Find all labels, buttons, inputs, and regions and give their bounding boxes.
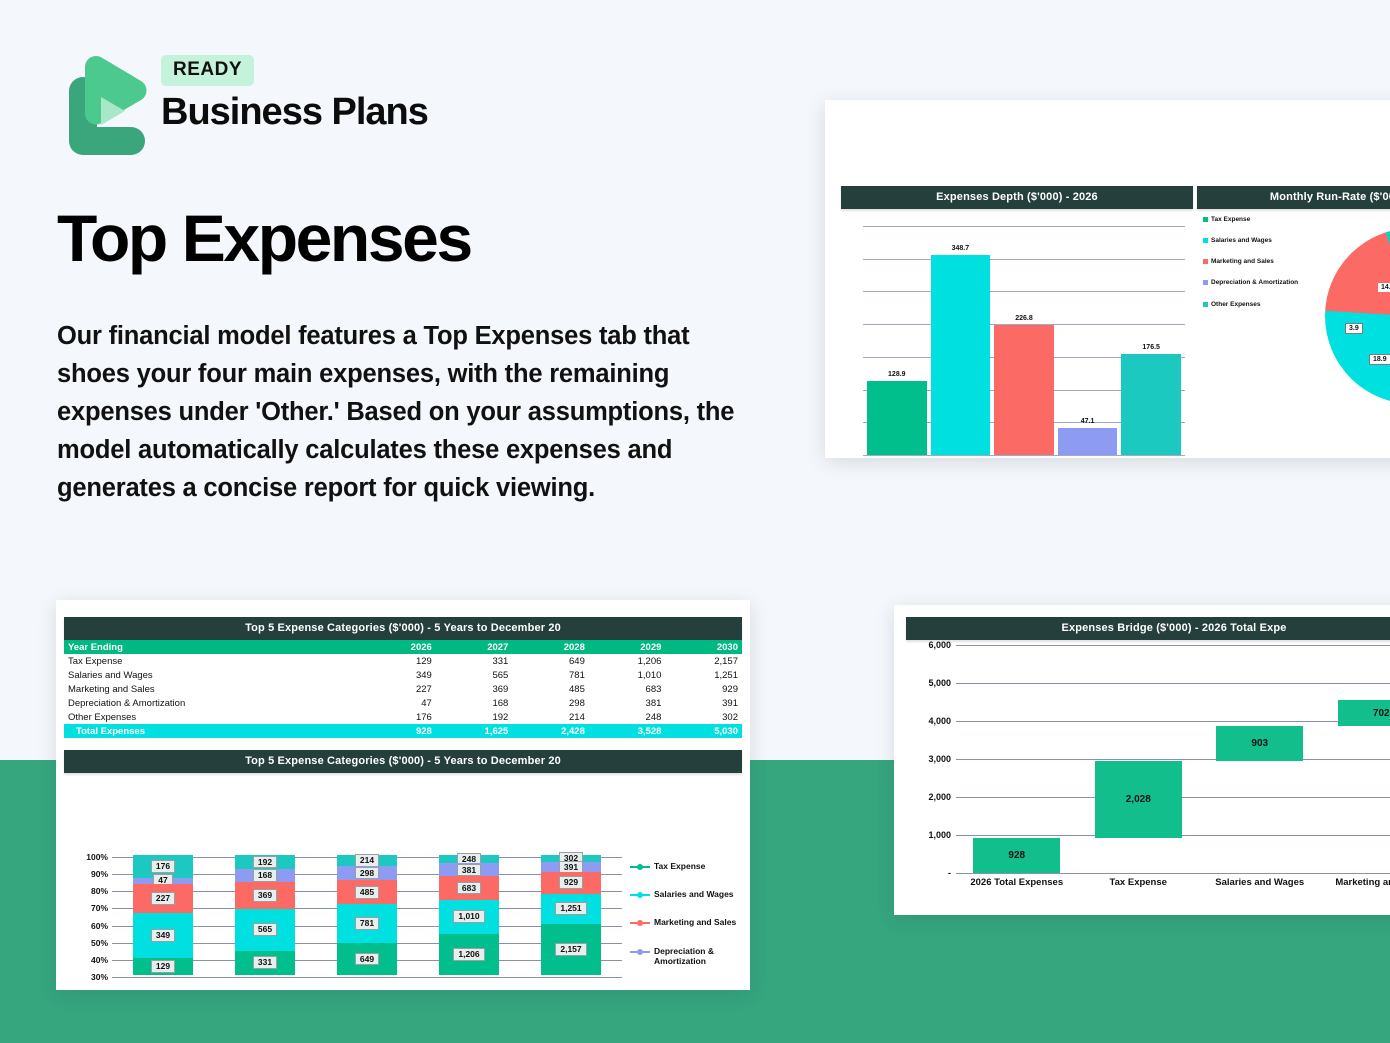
y-axis-tick-label: 2,000 <box>928 792 951 802</box>
table-row: Tax Expense1293316491,2062,157 <box>64 654 742 668</box>
expenses-depth-title: Expenses Depth ($'000) - 2026 <box>841 186 1193 209</box>
table-row: Depreciation & Amortization4716829838139… <box>64 696 742 710</box>
table-cell: 298 <box>512 696 589 710</box>
table-column-header: Year Ending <box>64 640 366 654</box>
table-row-label: Other Expenses <box>64 710 366 724</box>
stacked-segment: 349 <box>133 913 192 958</box>
table-row-label: Tax Expense <box>64 654 366 668</box>
stacked-segment: 1,010 <box>439 900 498 934</box>
top-chart-title-row: Expenses Depth ($'000) - 2026 Monthly Ru… <box>841 186 1390 209</box>
legend-item: Marketing and Sales <box>1203 258 1323 266</box>
y-axis-tick-label: - <box>948 868 951 878</box>
table-total-row: Total Expenses9281,6252,4283,5285,030 <box>64 724 742 738</box>
segment-value-label: 176 <box>151 860 175 873</box>
waterfall-value-label: 702 <box>1373 708 1390 719</box>
legend-item: Salaries and Wages <box>1203 237 1323 245</box>
table-row: Other Expenses176192214248302 <box>64 710 742 724</box>
depth-bar-value-label: 176.5 <box>1121 344 1181 351</box>
expenses-depth-chart: 128.9348.7226.847.1176.5 <box>841 212 1193 458</box>
depth-bar <box>931 255 991 455</box>
monthly-run-rate-pie-chart: 10.7 14.7 3.9 18.9 <box>1325 228 1390 408</box>
table-cell: 391 <box>665 696 742 710</box>
stacked-segment: 929 <box>541 872 600 894</box>
stacked-segment: 391 <box>541 862 600 871</box>
stacked-segment: 331 <box>235 951 294 975</box>
play-triangle-logo-icon <box>57 55 149 160</box>
y-axis-tick-label: 100% <box>86 852 108 862</box>
top-5-expense-categories-panel: Top 5 Expense Categories ($'000) - 5 Yea… <box>56 600 750 990</box>
stacked-segment: 683 <box>439 876 498 899</box>
table-cell: 929 <box>665 682 742 696</box>
table-body: Tax Expense1293316491,2062,157Salaries a… <box>64 654 742 738</box>
pie-slices <box>1325 228 1390 404</box>
depth-bar <box>1121 354 1181 455</box>
y-axis-tick-label: 90% <box>91 869 108 879</box>
table-cell: 565 <box>436 668 513 682</box>
waterfall-column: 903 <box>1199 645 1321 873</box>
segment-value-label: 929 <box>559 876 583 889</box>
stacked-column-chart: 100%90%80%70%60%50%40%30% 17647227349129… <box>64 855 742 983</box>
waterfall-column: 702 <box>1321 645 1390 873</box>
stacked-segment: 2,157 <box>541 924 600 975</box>
segment-value-label: 1,251 <box>555 902 586 915</box>
table-total-cell: 1,625 <box>436 724 513 738</box>
table-row: Salaries and Wages3495657811,0101,251 <box>64 668 742 682</box>
legend-label: Depreciation & Amortization <box>1211 279 1298 287</box>
stacked-segment: 129 <box>133 958 192 975</box>
legend-item: Marketing and Sales <box>630 917 742 927</box>
waterfall-category-label: Marketing and Sales <box>1321 877 1390 888</box>
table-row-label: Depreciation & Amortization <box>64 696 366 710</box>
waterfall-category-label: 2026 Total Expenses <box>956 877 1078 888</box>
table-cell: 47 <box>366 696 436 710</box>
stacked-segment: 381 <box>439 863 498 876</box>
legend-item: Depreciation & Amortization <box>1203 279 1323 287</box>
expense-table: Year Ending20262027202820292030 Tax Expe… <box>64 640 742 738</box>
table-column-header: 2027 <box>436 640 513 654</box>
table-total-label: Total Expenses <box>64 724 366 738</box>
table-row-label: Marketing and Sales <box>64 682 366 696</box>
stacked-segment: 298 <box>337 866 396 881</box>
stacked-column: 214298485781649 <box>316 855 418 975</box>
segment-value-label: 349 <box>151 929 175 942</box>
y-axis-tick-label: 50% <box>91 938 108 948</box>
table-cell: 168 <box>436 696 513 710</box>
table-row: Marketing and Sales227369485683929 <box>64 682 742 696</box>
stacked-segment: 485 <box>337 880 396 904</box>
legend-label: Tax Expense <box>1211 216 1250 224</box>
segment-value-label: 331 <box>253 956 277 969</box>
waterfall-category-label: Salaries and Wages <box>1199 877 1321 888</box>
segment-value-label: 485 <box>355 886 379 899</box>
waterfall-value-label: 903 <box>1251 738 1268 749</box>
y-axis-tick-label: 60% <box>91 921 108 931</box>
legend-item: Depreciation & Amortization <box>630 946 742 966</box>
table-row-label: Salaries and Wages <box>64 668 366 682</box>
y-axis-tick-label: 1,000 <box>928 830 951 840</box>
legend-label: Marketing and Sales <box>654 917 736 927</box>
table-cell: 227 <box>366 682 436 696</box>
table-cell: 192 <box>436 710 513 724</box>
y-axis-tick-label: 30% <box>91 972 108 982</box>
table-cell: 369 <box>436 682 513 696</box>
depth-bar <box>1058 428 1118 455</box>
waterfall-value-label: 2,028 <box>1126 794 1151 805</box>
legend-swatch <box>1203 302 1208 307</box>
table-header-row: Year Ending20262027202820292030 <box>64 640 742 654</box>
legend-item: Tax Expense <box>1203 216 1323 224</box>
page-title: Top Expenses <box>57 205 471 271</box>
y-axis-tick-label: 5,000 <box>928 678 951 688</box>
table-cell: 485 <box>512 682 589 696</box>
segment-value-label: 781 <box>355 917 379 930</box>
expenses-depth-panel: Expenses Depth ($'000) - 2026 Monthly Ru… <box>825 100 1390 458</box>
stacked-column: 2483816831,0101,206 <box>418 855 520 975</box>
waterfall-bars: 9282,028903702 <box>956 645 1390 873</box>
segment-value-label: 1,010 <box>453 910 484 923</box>
table-column-header: 2029 <box>589 640 666 654</box>
depth-bar-value-label: 128.9 <box>867 371 927 378</box>
segment-value-label: 129 <box>151 960 175 973</box>
pie-label-other: 3.9 <box>1345 323 1363 334</box>
depth-chart-bars: 128.9348.7226.847.1176.5 <box>863 226 1185 455</box>
table-cell: 129 <box>366 654 436 668</box>
y-axis-tick-label: 3,000 <box>928 754 951 764</box>
y-axis-tick-label: 6,000 <box>928 640 951 650</box>
table-cell: 683 <box>589 682 666 696</box>
segment-value-label: 649 <box>355 953 379 966</box>
depth-bar-column: 128.9 <box>867 226 927 455</box>
monthly-run-rate-title: Monthly Run-Rate ($'000) - <box>1197 186 1390 209</box>
stacked-chart-legend: Tax ExpenseSalaries and WagesMarketing a… <box>630 861 742 984</box>
stacked-segment: 565 <box>235 909 294 951</box>
legend-label: Other Expenses <box>1211 301 1261 309</box>
stacked-column: 192168369565331 <box>214 855 316 975</box>
legend-label: Salaries and Wages <box>654 889 734 899</box>
legend-marker <box>630 890 650 899</box>
waterfall-bar: 702 <box>1338 700 1390 727</box>
stacked-segment: 1,251 <box>541 894 600 924</box>
stacked-segment: 1,206 <box>439 934 498 975</box>
segment-value-label: 2,157 <box>555 943 586 956</box>
waterfall-column: 928 <box>956 645 1078 873</box>
stacked-segment: 227 <box>133 884 192 913</box>
table-cell: 349 <box>366 668 436 682</box>
table-total-cell: 5,030 <box>665 724 742 738</box>
table-column-header: 2030 <box>665 640 742 654</box>
depth-bar-value-label: 348.7 <box>931 245 991 252</box>
segment-value-label: 683 <box>457 882 481 895</box>
table-cell: 781 <box>512 668 589 682</box>
depth-bar-value-label: 226.8 <box>994 315 1054 322</box>
segment-value-label: 192 <box>253 856 277 869</box>
depth-bar <box>867 381 927 455</box>
table-cell: 302 <box>665 710 742 724</box>
segment-value-label: 1,206 <box>453 948 484 961</box>
ready-badge: READY <box>161 55 254 86</box>
stacked-segment: 192 <box>235 855 294 869</box>
legend-marker <box>630 947 650 956</box>
table-column-header: 2028 <box>512 640 589 654</box>
table-cell: 176 <box>366 710 436 724</box>
expenses-bridge-title: Expenses Bridge ($'000) - 2026 Total Exp… <box>906 617 1390 640</box>
table-total-cell: 3,528 <box>589 724 666 738</box>
stacked-segment: 781 <box>337 904 396 943</box>
pie-label-salaries: 18.9 <box>1369 354 1390 365</box>
legend-swatch <box>1203 238 1208 243</box>
legend-swatch <box>1203 280 1208 285</box>
legend-marker <box>630 918 650 927</box>
pie-label-marketing: 14.7 <box>1378 283 1390 292</box>
y-axis-tick-label: 80% <box>91 886 108 896</box>
waterfall-bar: 2,028 <box>1095 761 1182 838</box>
stacked-segment: 649 <box>337 943 396 975</box>
stacked-column: 3023919291,2512,157 <box>520 855 622 975</box>
stacked-chart-columns: 1764722734912919216836956533121429848578… <box>112 855 622 975</box>
waterfall-bar: 928 <box>973 838 1060 873</box>
legend-item: Tax Expense <box>630 861 742 871</box>
segment-value-label: 298 <box>355 867 379 880</box>
waterfall-chart: 6,0005,0004,0003,0002,0001,000- 9282,028… <box>906 645 1390 903</box>
table-cell: 214 <box>512 710 589 724</box>
table-cell: 381 <box>589 696 666 710</box>
waterfall-bar: 903 <box>1216 726 1303 760</box>
table-total-cell: 928 <box>366 724 436 738</box>
depth-bar-value-label: 47.1 <box>1058 418 1118 425</box>
waterfall-category-label: Tax Expense <box>1078 877 1200 888</box>
legend-item: Other Expenses <box>1203 301 1323 309</box>
depth-chart-legend: Tax ExpenseSalaries and WagesMarketing a… <box>1203 216 1323 322</box>
depth-bar-column: 47.1 <box>1058 226 1118 455</box>
waterfall-y-axis: 6,0005,0004,0003,0002,0001,000- <box>906 645 954 873</box>
waterfall-category-labels: 2026 Total ExpensesTax ExpenseSalaries a… <box>956 877 1390 888</box>
brand-name: Business Plans <box>161 93 428 131</box>
legend-marker <box>630 862 650 871</box>
legend-label: Salaries and Wages <box>1211 237 1272 245</box>
table-cell: 1,251 <box>665 668 742 682</box>
stacked-chart-title: Top 5 Expense Categories ($'000) - 5 Yea… <box>64 750 742 773</box>
expense-table-title: Top 5 Expense Categories ($'000) - 5 Yea… <box>64 617 742 640</box>
stacked-column: 17647227349129 <box>112 855 214 975</box>
stacked-segment: 214 <box>337 855 396 866</box>
brand-text: READY Business Plans <box>161 55 428 131</box>
table-total-cell: 2,428 <box>512 724 589 738</box>
segment-value-label: 369 <box>253 889 277 902</box>
waterfall-value-label: 928 <box>1008 850 1025 861</box>
legend-swatch <box>1203 217 1208 222</box>
segment-value-label: 168 <box>253 869 277 882</box>
expenses-bridge-panel: Expenses Bridge ($'000) - 2026 Total Exp… <box>894 605 1390 915</box>
segment-value-label: 227 <box>151 892 175 905</box>
legend-label: Depreciation & Amortization <box>654 946 742 966</box>
depth-bar-column: 176.5 <box>1121 226 1181 455</box>
brand-logo-block: READY Business Plans <box>57 55 477 160</box>
legend-swatch <box>1203 259 1208 264</box>
depth-bar <box>994 325 1054 455</box>
page-description: Our financial model features a Top Expen… <box>57 318 757 508</box>
table-cell: 331 <box>436 654 513 668</box>
table-cell: 649 <box>512 654 589 668</box>
waterfall-column: 2,028 <box>1078 645 1200 873</box>
stacked-segment: 369 <box>235 882 294 909</box>
y-axis-tick-label: 40% <box>91 955 108 965</box>
segment-value-label: 381 <box>457 864 481 877</box>
table-cell: 2,157 <box>665 654 742 668</box>
y-axis-tick-label: 70% <box>91 903 108 913</box>
stacked-chart-y-axis: 100%90%80%70%60%50%40%30% <box>64 855 110 983</box>
table-cell: 248 <box>589 710 666 724</box>
stacked-segment: 168 <box>235 869 294 881</box>
table-cell: 1,206 <box>589 654 666 668</box>
table-cell: 1,010 <box>589 668 666 682</box>
legend-label: Tax Expense <box>654 861 705 871</box>
legend-label: Marketing and Sales <box>1211 258 1274 266</box>
y-axis-tick-label: 4,000 <box>928 716 951 726</box>
segment-value-label: 565 <box>253 923 277 936</box>
table-column-header: 2026 <box>366 640 436 654</box>
legend-item: Salaries and Wages <box>630 889 742 899</box>
depth-bar-column: 226.8 <box>994 226 1054 455</box>
depth-bar-column: 348.7 <box>931 226 991 455</box>
stacked-segment: 248 <box>439 855 498 863</box>
